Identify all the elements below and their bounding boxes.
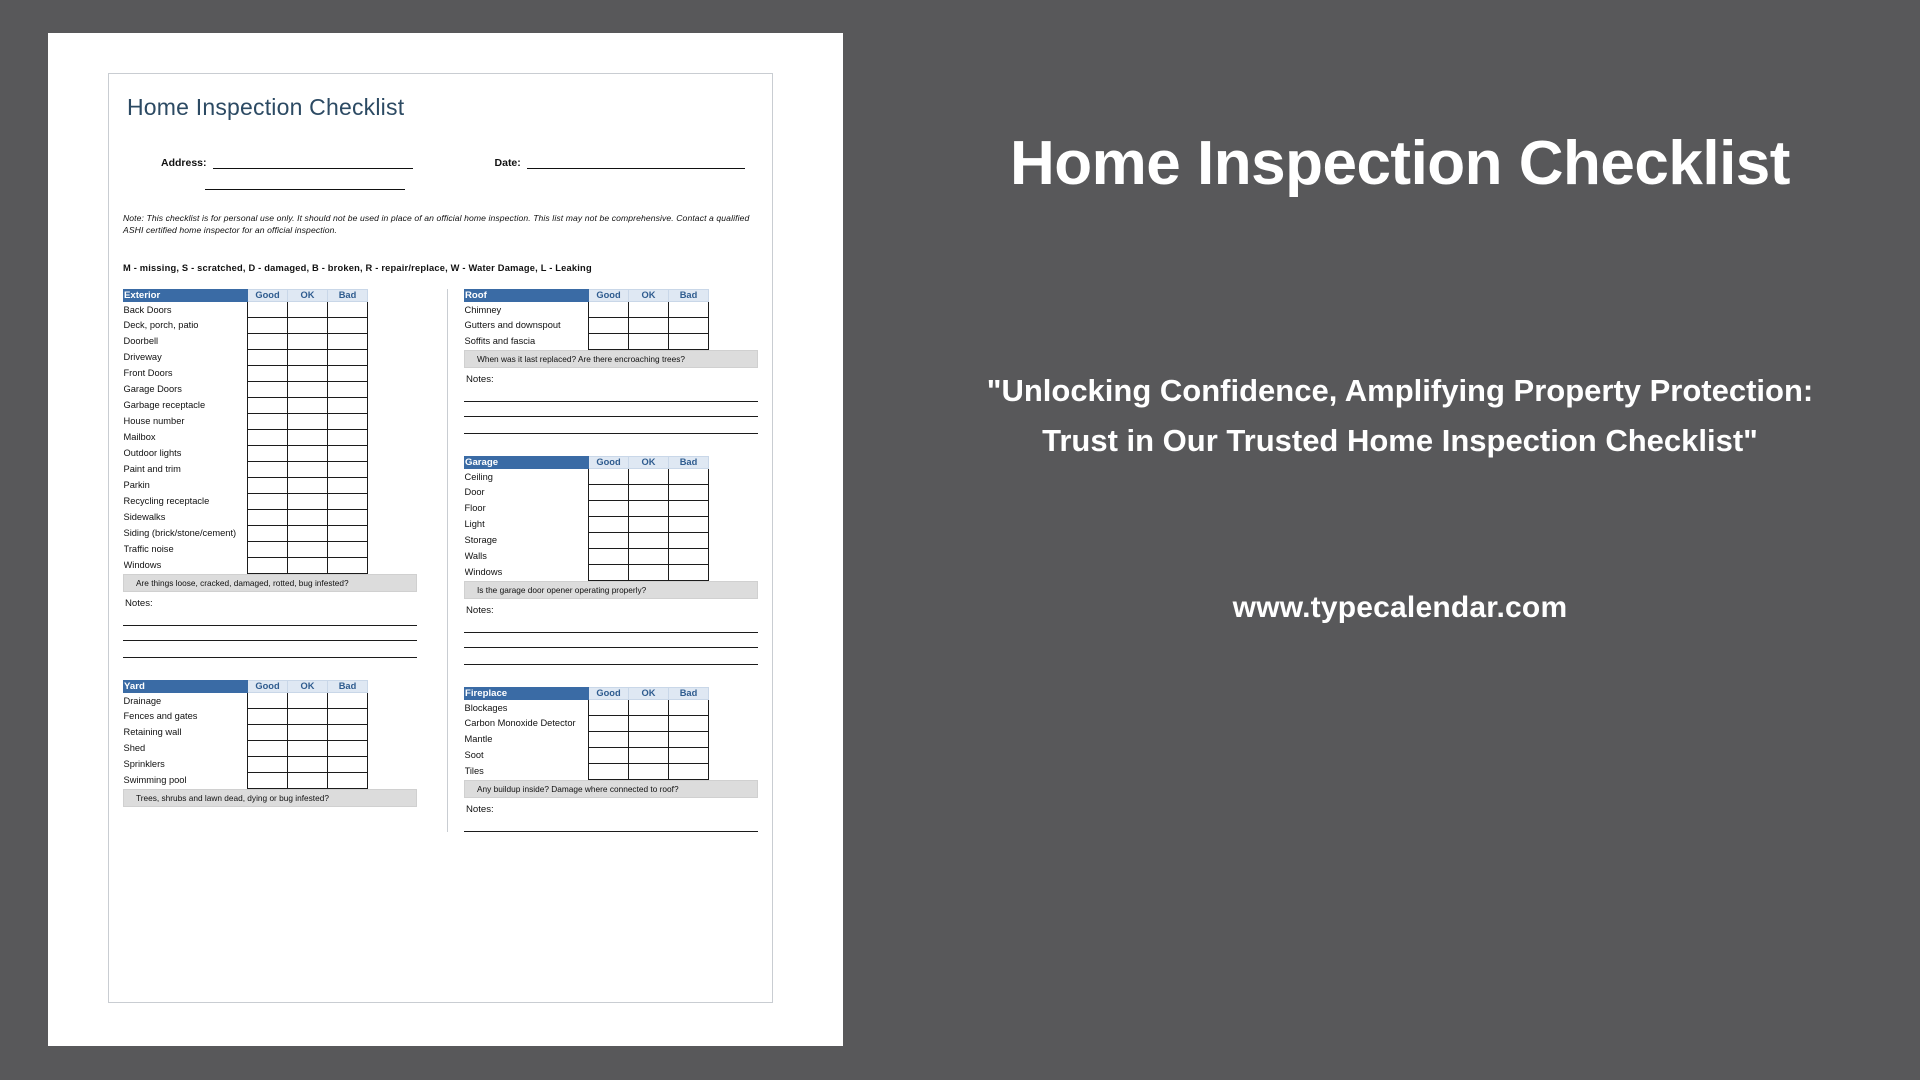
screenshot-root: Home Inspection Checklist Address: Date:… xyxy=(0,0,1920,1080)
rating-cell-bad[interactable] xyxy=(328,317,368,333)
rating-cell-good[interactable] xyxy=(248,756,288,772)
row-spacer xyxy=(709,564,759,580)
table-header-row: Fireplace Good OK Bad xyxy=(465,687,759,699)
row-spacer xyxy=(368,509,418,525)
rating-cell-bad[interactable] xyxy=(328,333,368,349)
prompt-exterior: Are things loose, cracked, damaged, rott… xyxy=(123,574,417,592)
notes-line[interactable] xyxy=(123,611,417,626)
rating-cell-bad[interactable] xyxy=(669,763,709,779)
document-page: Home Inspection Checklist Address: Date:… xyxy=(48,33,843,1046)
table-row: Parkin xyxy=(124,477,418,493)
table-row: Ceiling xyxy=(465,468,759,484)
row-spacer xyxy=(368,756,418,772)
item-label: Sidewalks xyxy=(124,509,248,525)
row-spacer xyxy=(709,484,759,500)
rating-cell-ok[interactable] xyxy=(288,756,328,772)
row-spacer xyxy=(368,301,418,317)
table-header-row: Roof Good OK Bad xyxy=(465,289,759,301)
column-header-good: Good xyxy=(589,456,629,468)
rating-cell-good[interactable] xyxy=(248,724,288,740)
item-label: Outdoor lights xyxy=(124,445,248,461)
item-label: Tiles xyxy=(465,763,589,779)
column-header-good: Good xyxy=(589,289,629,301)
rating-cell-bad[interactable] xyxy=(328,477,368,493)
rating-cell-bad[interactable] xyxy=(328,509,368,525)
column-header-ok: OK xyxy=(288,289,328,301)
rating-cell-bad[interactable] xyxy=(328,365,368,381)
section-yard: Yard Good OK Bad DrainageFences and gate… xyxy=(123,680,417,807)
rating-cell-bad[interactable] xyxy=(669,747,709,763)
rating-cell-ok[interactable] xyxy=(629,747,669,763)
rating-cell-ok[interactable] xyxy=(288,724,328,740)
rating-cell-good[interactable] xyxy=(248,557,288,573)
rating-cell-bad[interactable] xyxy=(328,708,368,724)
row-spacer xyxy=(709,731,759,747)
rating-cell-bad[interactable] xyxy=(669,484,709,500)
notes-line[interactable] xyxy=(464,633,758,648)
rating-cell-ok[interactable] xyxy=(288,772,328,788)
notes-label-exterior: Notes: xyxy=(123,592,417,611)
row-spacer xyxy=(368,349,418,365)
table-row: Door xyxy=(465,484,759,500)
rating-cell-good[interactable] xyxy=(248,477,288,493)
right-column: Roof Good OK Bad ChimneyGutters and down… xyxy=(447,289,758,832)
rating-cell-good[interactable] xyxy=(589,484,629,500)
item-label: Garage Doors xyxy=(124,381,248,397)
section-title-fireplace: Fireplace xyxy=(465,687,589,699)
item-label: Ceiling xyxy=(465,468,589,484)
row-spacer xyxy=(368,365,418,381)
row-spacer xyxy=(368,381,418,397)
rating-cell-ok[interactable] xyxy=(288,557,328,573)
rating-cell-ok[interactable] xyxy=(288,445,328,461)
row-spacer xyxy=(709,468,759,484)
rating-cell-bad[interactable] xyxy=(328,772,368,788)
rating-cell-good[interactable] xyxy=(248,429,288,445)
rating-cell-bad[interactable] xyxy=(669,516,709,532)
rating-cell-good[interactable] xyxy=(248,381,288,397)
rating-cell-ok[interactable] xyxy=(288,397,328,413)
prompt-garage: Is the garage door opener operating prop… xyxy=(464,581,758,599)
rating-cell-good[interactable] xyxy=(248,301,288,317)
table-row: Sprinklers xyxy=(124,756,418,772)
row-spacer xyxy=(368,708,418,724)
row-spacer xyxy=(368,557,418,573)
table-row: Light xyxy=(465,516,759,532)
table-row: Fences and gates xyxy=(124,708,418,724)
table-row: Driveway xyxy=(124,349,418,365)
section-title-garage: Garage xyxy=(465,456,589,468)
column-header-bad: Bad xyxy=(328,289,368,301)
prompt-yard: Trees, shrubs and lawn dead, dying or bu… xyxy=(123,789,417,807)
rating-cell-bad[interactable] xyxy=(669,500,709,516)
rating-cell-ok[interactable] xyxy=(288,692,328,708)
item-label: House number xyxy=(124,413,248,429)
column-header-good: Good xyxy=(589,687,629,699)
rating-cell-ok[interactable] xyxy=(288,708,328,724)
address-label: Address: xyxy=(161,157,207,169)
page-title: Home Inspection Checklist xyxy=(127,94,758,121)
rating-cell-ok[interactable] xyxy=(629,500,669,516)
table-header-row: Yard Good OK Bad xyxy=(124,680,418,692)
notes-line[interactable] xyxy=(123,626,417,641)
prompt-roof: When was it last replaced? Are there enc… xyxy=(464,350,758,368)
row-spacer xyxy=(368,477,418,493)
rating-cell-good[interactable] xyxy=(248,772,288,788)
rating-cell-ok[interactable] xyxy=(629,564,669,580)
section-title-roof: Roof xyxy=(465,289,589,301)
rating-cell-bad[interactable] xyxy=(669,301,709,317)
notes-line[interactable] xyxy=(464,618,758,633)
item-label: Soot xyxy=(465,747,589,763)
item-label: Traffic noise xyxy=(124,541,248,557)
left-column: Exterior Good OK Bad Back DoorsDeck, por… xyxy=(123,289,417,832)
item-label: Back Doors xyxy=(124,301,248,317)
rating-cell-good[interactable] xyxy=(589,747,629,763)
row-spacer xyxy=(368,541,418,557)
rating-cell-ok[interactable] xyxy=(288,525,328,541)
table-row: House number xyxy=(124,413,418,429)
row-spacer xyxy=(368,525,418,541)
rating-cell-good[interactable] xyxy=(248,333,288,349)
rating-cell-bad[interactable] xyxy=(328,381,368,397)
rating-cell-good[interactable] xyxy=(248,365,288,381)
promo-url[interactable]: www.typecalendar.com xyxy=(1233,591,1568,625)
item-label: Door xyxy=(465,484,589,500)
rating-cell-good[interactable] xyxy=(248,317,288,333)
item-label: Windows xyxy=(465,564,589,580)
rating-cell-good[interactable] xyxy=(589,715,629,731)
item-label: Storage xyxy=(465,532,589,548)
section-title-exterior: Exterior xyxy=(124,289,248,301)
rating-cell-ok[interactable] xyxy=(288,413,328,429)
column-header-ok: OK xyxy=(629,456,669,468)
table-row: Storage xyxy=(465,532,759,548)
item-label: Retaining wall xyxy=(124,724,248,740)
rating-cell-good[interactable] xyxy=(589,532,629,548)
rating-cell-good[interactable] xyxy=(248,461,288,477)
row-spacer xyxy=(709,532,759,548)
date-field[interactable] xyxy=(527,157,745,169)
rating-cell-bad[interactable] xyxy=(669,564,709,580)
item-label: Driveway xyxy=(124,349,248,365)
rating-cell-bad[interactable] xyxy=(328,541,368,557)
rating-cell-ok[interactable] xyxy=(629,548,669,564)
rating-cell-good[interactable] xyxy=(248,445,288,461)
rating-cell-good[interactable] xyxy=(248,740,288,756)
row-spacer xyxy=(368,740,418,756)
item-label: Swimming pool xyxy=(124,772,248,788)
rating-cell-bad[interactable] xyxy=(328,461,368,477)
rating-cell-bad[interactable] xyxy=(669,333,709,349)
rating-cell-ok[interactable] xyxy=(288,541,328,557)
rating-cell-bad[interactable] xyxy=(669,317,709,333)
rating-cell-ok[interactable] xyxy=(629,731,669,747)
section-title-yard: Yard xyxy=(124,680,248,692)
rating-cell-good[interactable] xyxy=(589,763,629,779)
notes-line[interactable] xyxy=(464,417,758,434)
item-label: Recycling receptacle xyxy=(124,493,248,509)
rating-cell-ok[interactable] xyxy=(288,509,328,525)
rating-cell-ok[interactable] xyxy=(629,317,669,333)
address-field-line2[interactable] xyxy=(205,178,405,190)
item-label: Parkin xyxy=(124,477,248,493)
rating-cell-good[interactable] xyxy=(248,692,288,708)
rating-cell-bad[interactable] xyxy=(328,413,368,429)
rating-cell-good[interactable] xyxy=(248,509,288,525)
rating-cell-ok[interactable] xyxy=(288,740,328,756)
row-spacer xyxy=(368,692,418,708)
notes-line[interactable] xyxy=(464,648,758,665)
rating-cell-bad[interactable] xyxy=(669,731,709,747)
rating-cell-bad[interactable] xyxy=(328,349,368,365)
item-label: Garbage receptacle xyxy=(124,397,248,413)
roof-rows: ChimneyGutters and downspoutSoffits and … xyxy=(465,301,759,349)
item-label: Mantle xyxy=(465,731,589,747)
table-row: Doorbell xyxy=(124,333,418,349)
rating-cell-good[interactable] xyxy=(589,564,629,580)
rating-cell-bad[interactable] xyxy=(328,756,368,772)
row-spacer xyxy=(368,397,418,413)
row-spacer xyxy=(368,772,418,788)
rating-cell-bad[interactable] xyxy=(328,429,368,445)
table-row: Gutters and downspout xyxy=(465,317,759,333)
table-row: Front Doors xyxy=(124,365,418,381)
notes-label-garage: Notes: xyxy=(464,599,758,618)
table-row: Paint and trim xyxy=(124,461,418,477)
table-row: Windows xyxy=(465,564,759,580)
column-header-bad: Bad xyxy=(669,687,709,699)
column-header-bad: Bad xyxy=(328,680,368,692)
column-header-good: Good xyxy=(248,680,288,692)
rating-cell-ok[interactable] xyxy=(629,532,669,548)
table-row: Blockages xyxy=(465,699,759,715)
rating-cell-ok[interactable] xyxy=(288,301,328,317)
rating-cell-good[interactable] xyxy=(589,317,629,333)
rating-cell-ok[interactable] xyxy=(288,317,328,333)
row-spacer xyxy=(368,333,418,349)
table-row: Soot xyxy=(465,747,759,763)
yard-rows: DrainageFences and gatesRetaining wallSh… xyxy=(124,692,418,788)
abbreviation-legend: M - missing, S - scratched, D - damaged,… xyxy=(123,263,758,273)
item-label: Walls xyxy=(465,548,589,564)
promo-heading: Home Inspection Checklist xyxy=(1010,130,1790,198)
rating-cell-good[interactable] xyxy=(589,516,629,532)
table-row: Outdoor lights xyxy=(124,445,418,461)
date-label: Date: xyxy=(495,157,521,169)
rating-cell-good[interactable] xyxy=(589,333,629,349)
rating-cell-ok[interactable] xyxy=(629,484,669,500)
fireplace-rows: BlockagesCarbon Monoxide DetectorMantleS… xyxy=(465,699,759,779)
table-row: Traffic noise xyxy=(124,541,418,557)
rating-cell-good[interactable] xyxy=(589,699,629,715)
column-header-ok: OK xyxy=(629,687,669,699)
table-row: Tiles xyxy=(465,763,759,779)
table-header-row: Garage Good OK Bad xyxy=(465,456,759,468)
item-label: Sprinklers xyxy=(124,756,248,772)
promo-quote: "Unlocking Confidence, Amplifying Proper… xyxy=(970,366,1830,466)
column-header-ok: OK xyxy=(629,289,669,301)
table-row: Mailbox xyxy=(124,429,418,445)
table-row: Shed xyxy=(124,740,418,756)
rating-cell-ok[interactable] xyxy=(629,763,669,779)
rating-cell-ok[interactable] xyxy=(288,493,328,509)
rating-cell-ok[interactable] xyxy=(288,461,328,477)
item-label: Windows xyxy=(124,557,248,573)
column-header-good: Good xyxy=(248,289,288,301)
section-exterior: Exterior Good OK Bad Back DoorsDeck, por… xyxy=(123,289,417,680)
row-spacer xyxy=(368,317,418,333)
row-spacer xyxy=(368,724,418,740)
row-spacer xyxy=(709,715,759,731)
notes-line[interactable] xyxy=(464,387,758,402)
table-row: Carbon Monoxide Detector xyxy=(465,715,759,731)
row-spacer xyxy=(368,461,418,477)
rating-cell-bad[interactable] xyxy=(328,692,368,708)
row-spacer xyxy=(368,429,418,445)
table-row: Retaining wall xyxy=(124,724,418,740)
table-row: Soffits and fascia xyxy=(465,333,759,349)
item-label: Siding (brick/stone/cement) xyxy=(124,525,248,541)
rating-cell-bad[interactable] xyxy=(669,715,709,731)
table-row: Siding (brick/stone/cement) xyxy=(124,525,418,541)
section-roof: Roof Good OK Bad ChimneyGutters and down… xyxy=(464,289,758,456)
garage-rows: CeilingDoorFloorLightStorageWallsWindows xyxy=(465,468,759,580)
rating-cell-good[interactable] xyxy=(589,301,629,317)
item-label: Mailbox xyxy=(124,429,248,445)
item-label: Chimney xyxy=(465,301,589,317)
rating-cell-good[interactable] xyxy=(589,500,629,516)
item-label: Doorbell xyxy=(124,333,248,349)
rating-cell-good[interactable] xyxy=(248,525,288,541)
rating-cell-bad[interactable] xyxy=(328,301,368,317)
item-label: Front Doors xyxy=(124,365,248,381)
rating-cell-good[interactable] xyxy=(589,468,629,484)
section-garage: Garage Good OK Bad CeilingDoorFloorLight… xyxy=(464,456,758,687)
table-row: Recycling receptacle xyxy=(124,493,418,509)
rating-cell-good[interactable] xyxy=(589,731,629,747)
notes-line[interactable] xyxy=(464,817,758,832)
rating-cell-ok[interactable] xyxy=(629,699,669,715)
rating-cell-bad[interactable] xyxy=(669,699,709,715)
rating-cell-bad[interactable] xyxy=(328,740,368,756)
rating-cell-ok[interactable] xyxy=(629,468,669,484)
item-label: Blockages xyxy=(465,699,589,715)
table-row: Garage Doors xyxy=(124,381,418,397)
rating-cell-ok[interactable] xyxy=(629,516,669,532)
section-fireplace: Fireplace Good OK Bad BlockagesCarbon Mo… xyxy=(464,687,758,832)
rating-cell-ok[interactable] xyxy=(629,301,669,317)
notes-line[interactable] xyxy=(123,641,417,658)
table-row: Floor xyxy=(465,500,759,516)
row-spacer xyxy=(709,516,759,532)
promo-panel: Home Inspection Checklist "Unlocking Con… xyxy=(880,0,1920,1080)
notes-label-roof: Notes: xyxy=(464,368,758,387)
rating-cell-good[interactable] xyxy=(248,397,288,413)
row-spacer xyxy=(368,445,418,461)
exterior-rows: Back DoorsDeck, porch, patioDoorbellDriv… xyxy=(124,301,418,573)
table-row: Garbage receptacle xyxy=(124,397,418,413)
rating-cell-good[interactable] xyxy=(248,541,288,557)
item-label: Shed xyxy=(124,740,248,756)
row-spacer xyxy=(709,301,759,317)
table-row: Windows xyxy=(124,557,418,573)
item-label: Light xyxy=(465,516,589,532)
row-spacer xyxy=(709,763,759,779)
notes-line[interactable] xyxy=(464,402,758,417)
disclaimer-note: Note: This checklist is for personal use… xyxy=(123,212,758,237)
item-label: Carbon Monoxide Detector xyxy=(465,715,589,731)
row-spacer xyxy=(709,317,759,333)
rating-cell-bad[interactable] xyxy=(669,532,709,548)
row-spacer xyxy=(709,747,759,763)
row-spacer xyxy=(368,413,418,429)
table-row: Mantle xyxy=(465,731,759,747)
table-row: Sidewalks xyxy=(124,509,418,525)
rating-cell-ok[interactable] xyxy=(288,429,328,445)
table-row: Back Doors xyxy=(124,301,418,317)
column-header-bad: Bad xyxy=(669,289,709,301)
row-spacer xyxy=(709,548,759,564)
checklist-columns: Exterior Good OK Bad Back DoorsDeck, por… xyxy=(123,289,758,832)
item-label: Floor xyxy=(465,500,589,516)
rating-cell-bad[interactable] xyxy=(328,397,368,413)
rating-cell-ok[interactable] xyxy=(629,715,669,731)
item-label: Deck, porch, patio xyxy=(124,317,248,333)
rating-cell-ok[interactable] xyxy=(288,381,328,397)
rating-cell-bad[interactable] xyxy=(328,445,368,461)
row-spacer xyxy=(709,699,759,715)
row-spacer xyxy=(709,500,759,516)
rating-cell-good[interactable] xyxy=(589,548,629,564)
rating-cell-ok[interactable] xyxy=(629,333,669,349)
checklist-sheet: Home Inspection Checklist Address: Date:… xyxy=(108,73,773,1003)
rating-cell-good[interactable] xyxy=(248,708,288,724)
table-row: Walls xyxy=(465,548,759,564)
rating-cell-good[interactable] xyxy=(248,349,288,365)
row-spacer xyxy=(709,333,759,349)
rating-cell-bad[interactable] xyxy=(328,557,368,573)
item-label: Drainage xyxy=(124,692,248,708)
notes-label-fireplace: Notes: xyxy=(464,798,758,817)
address-date-row: Address: Date: xyxy=(123,157,758,169)
rating-cell-ok[interactable] xyxy=(288,477,328,493)
rating-cell-bad[interactable] xyxy=(669,468,709,484)
rating-cell-ok[interactable] xyxy=(288,333,328,349)
table-row: Swimming pool xyxy=(124,772,418,788)
rating-cell-bad[interactable] xyxy=(669,548,709,564)
item-label: Soffits and fascia xyxy=(465,333,589,349)
row-spacer xyxy=(368,493,418,509)
rating-cell-ok[interactable] xyxy=(288,349,328,365)
rating-cell-good[interactable] xyxy=(248,413,288,429)
rating-cell-ok[interactable] xyxy=(288,365,328,381)
table-row: Drainage xyxy=(124,692,418,708)
column-header-ok: OK xyxy=(288,680,328,692)
table-row: Deck, porch, patio xyxy=(124,317,418,333)
rating-cell-bad[interactable] xyxy=(328,525,368,541)
column-header-bad: Bad xyxy=(669,456,709,468)
item-label: Paint and trim xyxy=(124,461,248,477)
table-header-row: Exterior Good OK Bad xyxy=(124,289,418,301)
item-label: Gutters and downspout xyxy=(465,317,589,333)
rating-cell-bad[interactable] xyxy=(328,724,368,740)
item-label: Fences and gates xyxy=(124,708,248,724)
prompt-fireplace: Any buildup inside? Damage where connect… xyxy=(464,780,758,798)
rating-cell-good[interactable] xyxy=(248,493,288,509)
address-field[interactable] xyxy=(213,157,413,169)
rating-cell-bad[interactable] xyxy=(328,493,368,509)
